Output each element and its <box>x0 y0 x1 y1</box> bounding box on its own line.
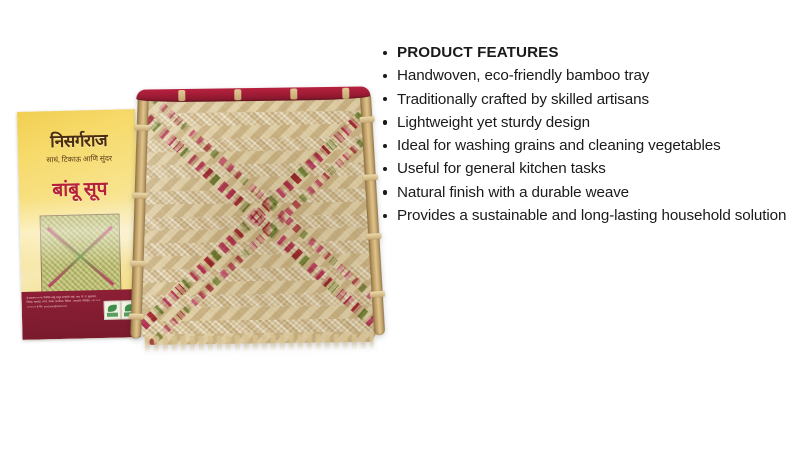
list-item: Useful for general kitchen tasks <box>378 157 790 180</box>
product-features-panel: PRODUCT FEATURES Handwoven, eco-friendly… <box>378 41 790 227</box>
weave-accent-stripe <box>136 107 377 327</box>
bullet-icon <box>383 51 387 55</box>
bullet-icon <box>383 97 387 101</box>
bullet-icon <box>383 74 387 78</box>
feature-text: Ideal for washing grains and cleaning ve… <box>397 137 721 154</box>
label-tagline: साधं, टिकाऊ आणि सुंदर <box>20 153 138 166</box>
weave-accent-stripe <box>140 131 373 355</box>
list-item: Lightweight yet sturdy design <box>378 111 790 134</box>
label-footer-band: हे उत्पादन १००% नैसर्गिक बांबू पासून बनव… <box>21 289 140 340</box>
feature-text: Handwoven, eco-friendly bamboo tray <box>397 67 649 84</box>
list-item: Provides a sustainable and long-lasting … <box>378 204 790 227</box>
tray-fringed-bottom-edge <box>144 333 373 352</box>
feature-text: Traditionally crafted by skilled artisan… <box>397 91 649 108</box>
list-item: Traditionally crafted by skilled artisan… <box>378 88 790 111</box>
product-packaging-label: निसर्गराज साधं, टिकाऊ आणि सुंदर बांबू सू… <box>17 109 141 340</box>
bullet-icon <box>383 214 387 218</box>
feature-list: PRODUCT FEATURES Handwoven, eco-friendly… <box>378 41 790 227</box>
bullet-icon <box>383 120 387 124</box>
label-inset-tray-photo <box>40 214 122 300</box>
feature-text: PRODUCT FEATURES <box>397 44 559 61</box>
product-feature-slide: निसर्गराज साधं, टिकाऊ आणि सुंदर बांबू सू… <box>0 0 800 450</box>
label-brand-name: निसर्गराज <box>20 131 138 151</box>
feature-text: Lightweight yet sturdy design <box>397 114 590 131</box>
product-photo: निसर्गराज साधं, टिकाऊ आणि सुंदर बांबू सू… <box>0 0 380 450</box>
feature-text: Natural finish with a durable weave <box>397 184 629 201</box>
eco-certification-logo-icon <box>104 301 121 320</box>
weave-accent-stripe <box>136 82 375 299</box>
label-fineprint-text: हे उत्पादन १००% नैसर्गिक बांबू पासून बनव… <box>27 295 101 310</box>
bullet-icon <box>383 144 387 148</box>
bullet-icon <box>383 190 387 194</box>
list-item: PRODUCT FEATURES <box>378 41 790 64</box>
bamboo-tray <box>131 86 381 347</box>
list-item: Natural finish with a durable weave <box>378 181 790 204</box>
list-item: Ideal for washing grains and cleaning ve… <box>378 134 790 157</box>
label-product-name: बांबू सूप <box>21 179 139 201</box>
feature-text: Useful for general kitchen tasks <box>397 160 606 177</box>
weave-accent-stripe <box>139 104 374 330</box>
list-item: Handwoven, eco-friendly bamboo tray <box>378 64 790 87</box>
feature-text: Provides a sustainable and long-lasting … <box>397 207 786 224</box>
tray-woven-surface <box>131 86 381 347</box>
bullet-icon <box>383 167 387 171</box>
